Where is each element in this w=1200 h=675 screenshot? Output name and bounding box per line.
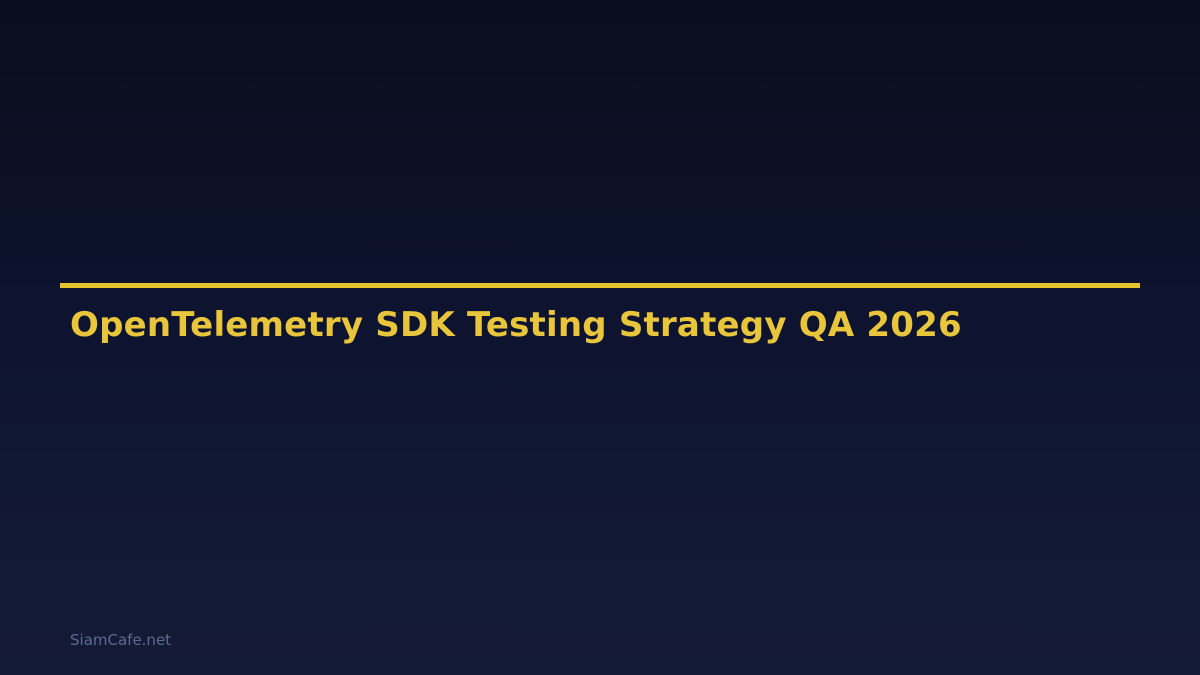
title-slide: OpenTelemetry SDK Testing Strategy QA 20… xyxy=(0,0,1200,675)
footer-watermark: SiamCafe.net xyxy=(70,630,171,650)
gold-accent-rule xyxy=(60,283,1140,288)
page-title: OpenTelemetry SDK Testing Strategy QA 20… xyxy=(70,303,962,347)
